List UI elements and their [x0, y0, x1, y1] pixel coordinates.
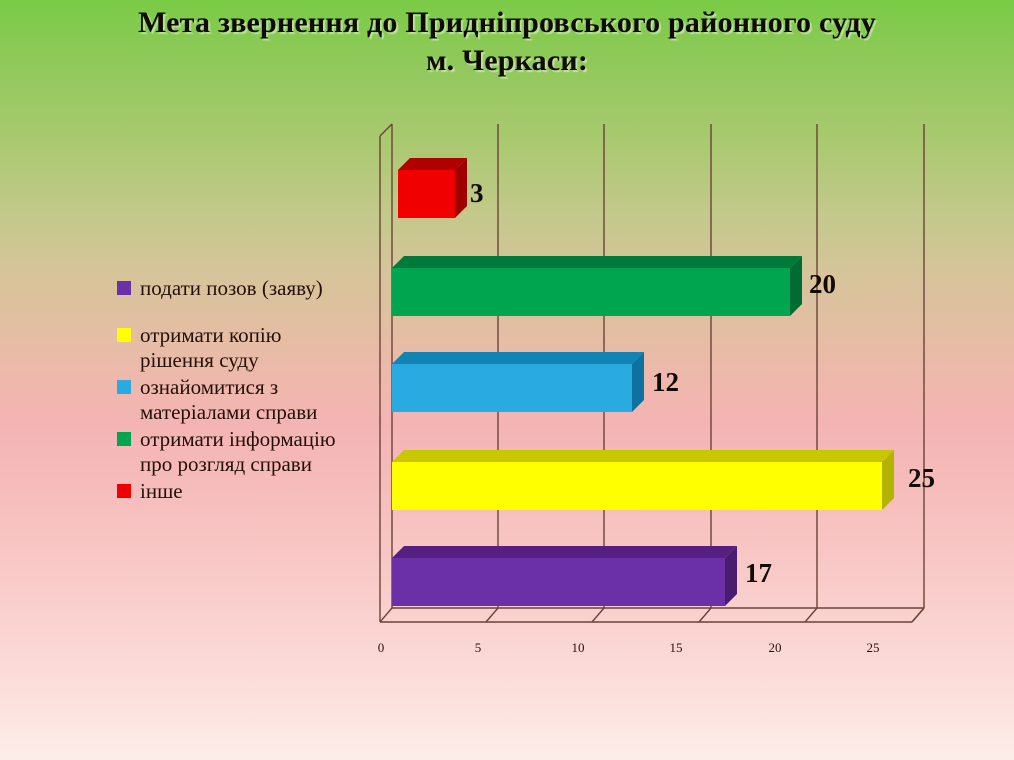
- axis-tick-15: 15: [670, 640, 683, 656]
- axis-tick-20: 20: [769, 640, 782, 656]
- bar-pozov[interactable]: [392, 546, 737, 606]
- legend-label-inshe: інше: [140, 479, 183, 504]
- legend-label-pozov: подати позов (заяву): [140, 276, 323, 301]
- legend-label-kopiyu: отримати копію рішення суду: [140, 323, 281, 373]
- slide-canvas: Мета звернення до Придніпровського район…: [0, 0, 1014, 760]
- page-title: Мета звернення до Придніпровського район…: [0, 4, 1014, 80]
- bar-inshe[interactable]: [398, 158, 467, 218]
- legend-item-informatsiu[interactable]: отримати інформацію про розгляд справи: [117, 427, 383, 477]
- legend-item-inshe[interactable]: інше: [117, 479, 383, 504]
- bar-value-pozov: 17: [745, 558, 772, 589]
- legend-swatch-yellow: [117, 328, 131, 342]
- title-line-1: Мета звернення до Придніпровського район…: [138, 6, 876, 39]
- axis-tick-25: 25: [867, 640, 880, 656]
- axis-tick-5: 5: [475, 640, 482, 656]
- bar-value-kopiyu: 25: [908, 463, 935, 494]
- legend-swatch-green: [117, 432, 131, 446]
- legend-swatch-blue: [117, 380, 131, 394]
- title-line-2: м. Черкаси:: [0, 42, 1014, 80]
- axis-tick-0: 0: [378, 640, 385, 656]
- legend-item-kopiyu[interactable]: отримати копію рішення суду: [117, 323, 383, 373]
- legend-item-oznayomytys[interactable]: ознайомитися з матеріалами справи: [117, 375, 383, 425]
- legend-label-informatsiu: отримати інформацію про розгляд справи: [140, 427, 336, 477]
- chart-legend: подати позов (заяву) отримати копію ріше…: [117, 276, 383, 506]
- bar-value-oznayomytys: 12: [652, 367, 679, 398]
- bar-oznayomytys[interactable]: [392, 352, 644, 412]
- bar-value-informatsiu: 20: [809, 269, 836, 300]
- legend-swatch-purple: [117, 281, 131, 295]
- legend-item-pozov[interactable]: подати позов (заяву): [117, 276, 383, 301]
- bar-kopiyu[interactable]: [392, 450, 894, 510]
- legend-label-oznayomytys: ознайомитися з матеріалами справи: [140, 375, 317, 425]
- bar-value-inshe: 3: [470, 178, 484, 209]
- legend-swatch-red: [117, 484, 131, 498]
- bar-informatsiu[interactable]: [392, 256, 802, 316]
- axis-tick-10: 10: [572, 640, 585, 656]
